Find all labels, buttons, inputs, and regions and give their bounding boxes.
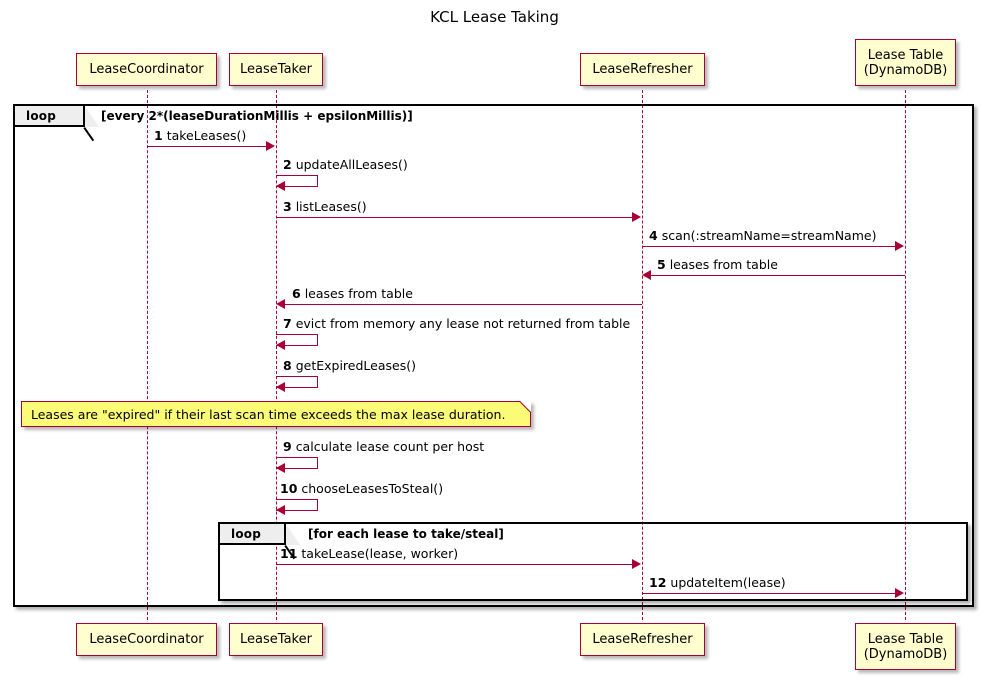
- message-3-arrowhead: [632, 212, 641, 222]
- message-1-seq: 1: [154, 128, 163, 143]
- message-2-text: updateAllLeases(): [296, 157, 408, 172]
- frame-outer-loop-condition: [every 2*(leaseDurationMillis + epsilonM…: [101, 109, 413, 123]
- message-2-arrowhead: [276, 181, 285, 191]
- frame-tab-label: loop: [231, 527, 261, 541]
- message-3-text: listLeases(): [296, 199, 367, 214]
- participant-lease-taker-top[interactable]: LeaseTaker: [229, 53, 323, 86]
- message-11-seq: 11: [280, 546, 297, 561]
- message-6-text: leases from table: [305, 286, 413, 301]
- participant-label: LeaseCoordinator: [89, 62, 203, 77]
- participant-label: LeaseCoordinator: [89, 632, 203, 647]
- message-11-text: takeLease(lease, worker): [301, 546, 458, 561]
- message-12-text: updateItem(lease): [670, 575, 785, 590]
- message-6-line: [285, 304, 642, 305]
- message-6-seq: 6: [292, 286, 301, 301]
- message-5-text: leases from table: [670, 257, 778, 272]
- participant-label: LeaseRefresher: [592, 632, 692, 647]
- frame-inner-loop-notch: [286, 524, 300, 545]
- participant-lease-taker-bottom[interactable]: LeaseTaker: [229, 623, 323, 656]
- participant-lease-table-bottom[interactable]: Lease Table (DynamoDB): [855, 623, 956, 670]
- message-9-text: calculate lease count per host: [296, 439, 484, 454]
- message-3-seq: 3: [283, 199, 292, 214]
- participant-label: Lease Table (DynamoDB): [864, 632, 948, 662]
- message-10-label: 10 chooseLeasesToSteal(): [280, 481, 443, 496]
- message-10-text: chooseLeasesToSteal(): [301, 481, 443, 496]
- message-7-label: 7 evict from memory any lease not return…: [283, 316, 630, 331]
- message-3-line: [276, 217, 633, 218]
- message-9-arrowhead: [276, 463, 285, 473]
- message-7-seq: 7: [283, 316, 292, 331]
- message-2-label: 2 updateAllLeases(): [283, 157, 408, 172]
- participant-lease-table-top[interactable]: Lease Table (DynamoDB): [855, 39, 956, 86]
- participant-label: LeaseTaker: [240, 62, 312, 77]
- message-11-line: [276, 564, 633, 565]
- message-4-arrowhead: [895, 241, 904, 251]
- participant-label: LeaseRefresher: [592, 62, 692, 77]
- participant-lease-coordinator-top[interactable]: LeaseCoordinator: [76, 53, 217, 86]
- message-12-label: 12 updateItem(lease): [649, 575, 786, 590]
- message-12-line: [642, 593, 896, 594]
- frame-inner-loop-tab: loop: [220, 524, 286, 545]
- message-10-arrowhead: [276, 505, 285, 515]
- message-1-line: [147, 146, 267, 147]
- sequence-diagram-canvas: KCL Lease Taking LeaseCoordinator LeaseT…: [0, 0, 989, 681]
- participant-lease-coordinator-bottom[interactable]: LeaseCoordinator: [76, 623, 217, 656]
- note-text: Leases are "expired" if their last scan …: [31, 407, 505, 422]
- message-9-label: 9 calculate lease count per host: [283, 439, 484, 454]
- message-4-line: [642, 246, 896, 247]
- message-5-arrowhead: [642, 270, 651, 280]
- note-expired-leases: Leases are "expired" if their last scan …: [21, 401, 531, 427]
- participant-lease-refresher-bottom[interactable]: LeaseRefresher: [580, 623, 705, 656]
- message-2-seq: 2: [283, 157, 292, 172]
- message-9-seq: 9: [283, 439, 292, 454]
- message-7-arrowhead: [276, 340, 285, 350]
- message-5-line: [651, 275, 905, 276]
- message-6-label: 6 leases from table: [292, 286, 413, 301]
- message-1-label: 1 takeLeases(): [154, 128, 246, 143]
- participant-label: LeaseTaker: [240, 632, 312, 647]
- page-title: KCL Lease Taking: [0, 8, 989, 26]
- message-4-text: scan(:streamName=streamName): [662, 228, 877, 243]
- message-5-label: 5 leases from table: [657, 257, 778, 272]
- message-10-seq: 10: [280, 481, 297, 496]
- message-12-seq: 12: [649, 575, 666, 590]
- message-3-label: 3 listLeases(): [283, 199, 367, 214]
- message-1-text: takeLeases(): [167, 128, 247, 143]
- frame-outer-loop-tab: loop: [15, 106, 85, 127]
- message-4-label: 4 scan(:streamName=streamName): [649, 228, 876, 243]
- message-4-seq: 4: [649, 228, 658, 243]
- participant-label: Lease Table (DynamoDB): [864, 48, 948, 78]
- frame-tab-label: loop: [26, 109, 56, 123]
- message-5-seq: 5: [657, 257, 666, 272]
- frame-inner-loop-condition: [for each lease to take/steal]: [308, 527, 504, 541]
- message-6-arrowhead: [276, 299, 285, 309]
- message-8-seq: 8: [283, 358, 292, 373]
- message-8-label: 8 getExpiredLeases(): [283, 358, 416, 373]
- message-11-arrowhead: [632, 559, 641, 569]
- message-8-arrowhead: [276, 382, 285, 392]
- message-11-label: 11 takeLease(lease, worker): [280, 546, 458, 561]
- message-7-text: evict from memory any lease not returned…: [296, 316, 631, 331]
- frame-outer-loop-notch: [85, 106, 99, 127]
- participant-lease-refresher-top[interactable]: LeaseRefresher: [580, 53, 705, 86]
- message-1-arrowhead: [266, 141, 275, 151]
- message-12-arrowhead: [895, 588, 904, 598]
- message-8-text: getExpiredLeases(): [296, 358, 416, 373]
